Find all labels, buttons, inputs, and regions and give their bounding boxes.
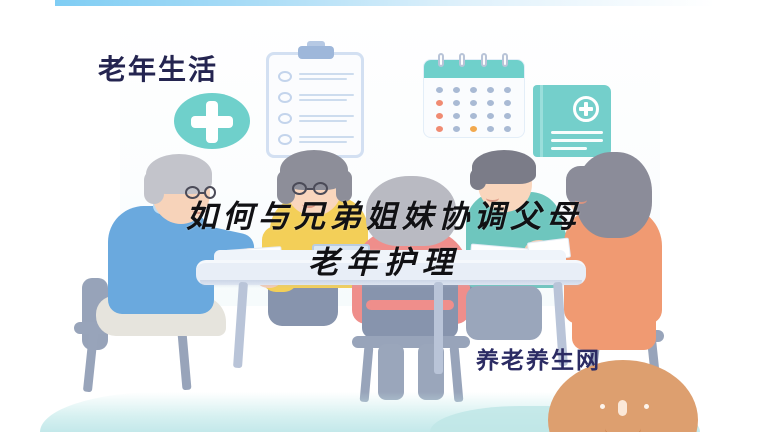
medical-cross-icon [174,93,250,149]
calendar-day-dot [487,100,494,106]
calendar-day-dot [470,126,477,132]
calendar-day-dot [504,87,511,93]
page-kicker: 老年生活 [98,48,218,88]
calendar-day-dot [453,87,460,93]
calendar-day-dot [487,126,494,132]
poster-canvas: 老年生活 如何与兄弟姐妹协调父母 老年护理 养老养生网 [0,0,768,432]
site-watermark: 养老养生网 [476,341,601,375]
calendar-day-dot [504,113,511,119]
calendar-day-dot [470,113,477,119]
table-leg [434,282,443,374]
page-title-line-1: 如何与兄弟姐妹协调父母 [0,194,768,240]
calendar-day-dot [470,100,477,106]
calendar-day-dot [436,100,443,106]
calendar-day-dot [453,113,460,119]
calendar-day-dot [453,126,460,132]
calendar-day-dot [453,100,460,106]
calendar-day-dot [436,113,443,119]
calendar-day-dot [436,126,443,132]
calendar-day-dot [487,87,494,93]
calendar-day-dot [487,113,494,119]
calendar-icon [424,60,524,137]
medical-book-icon [533,85,611,157]
page-title: 如何与兄弟姐妹协调父母 老年护理 [0,194,768,286]
clipboard-checklist-icon [266,52,364,158]
calendar-day-dot [504,126,511,132]
calendar-day-dot [436,87,443,93]
calendar-day-dot [470,87,477,93]
calendar-day-dot [504,100,511,106]
top-accent-strip [55,0,715,6]
page-title-line-2: 老年护理 [0,240,768,286]
